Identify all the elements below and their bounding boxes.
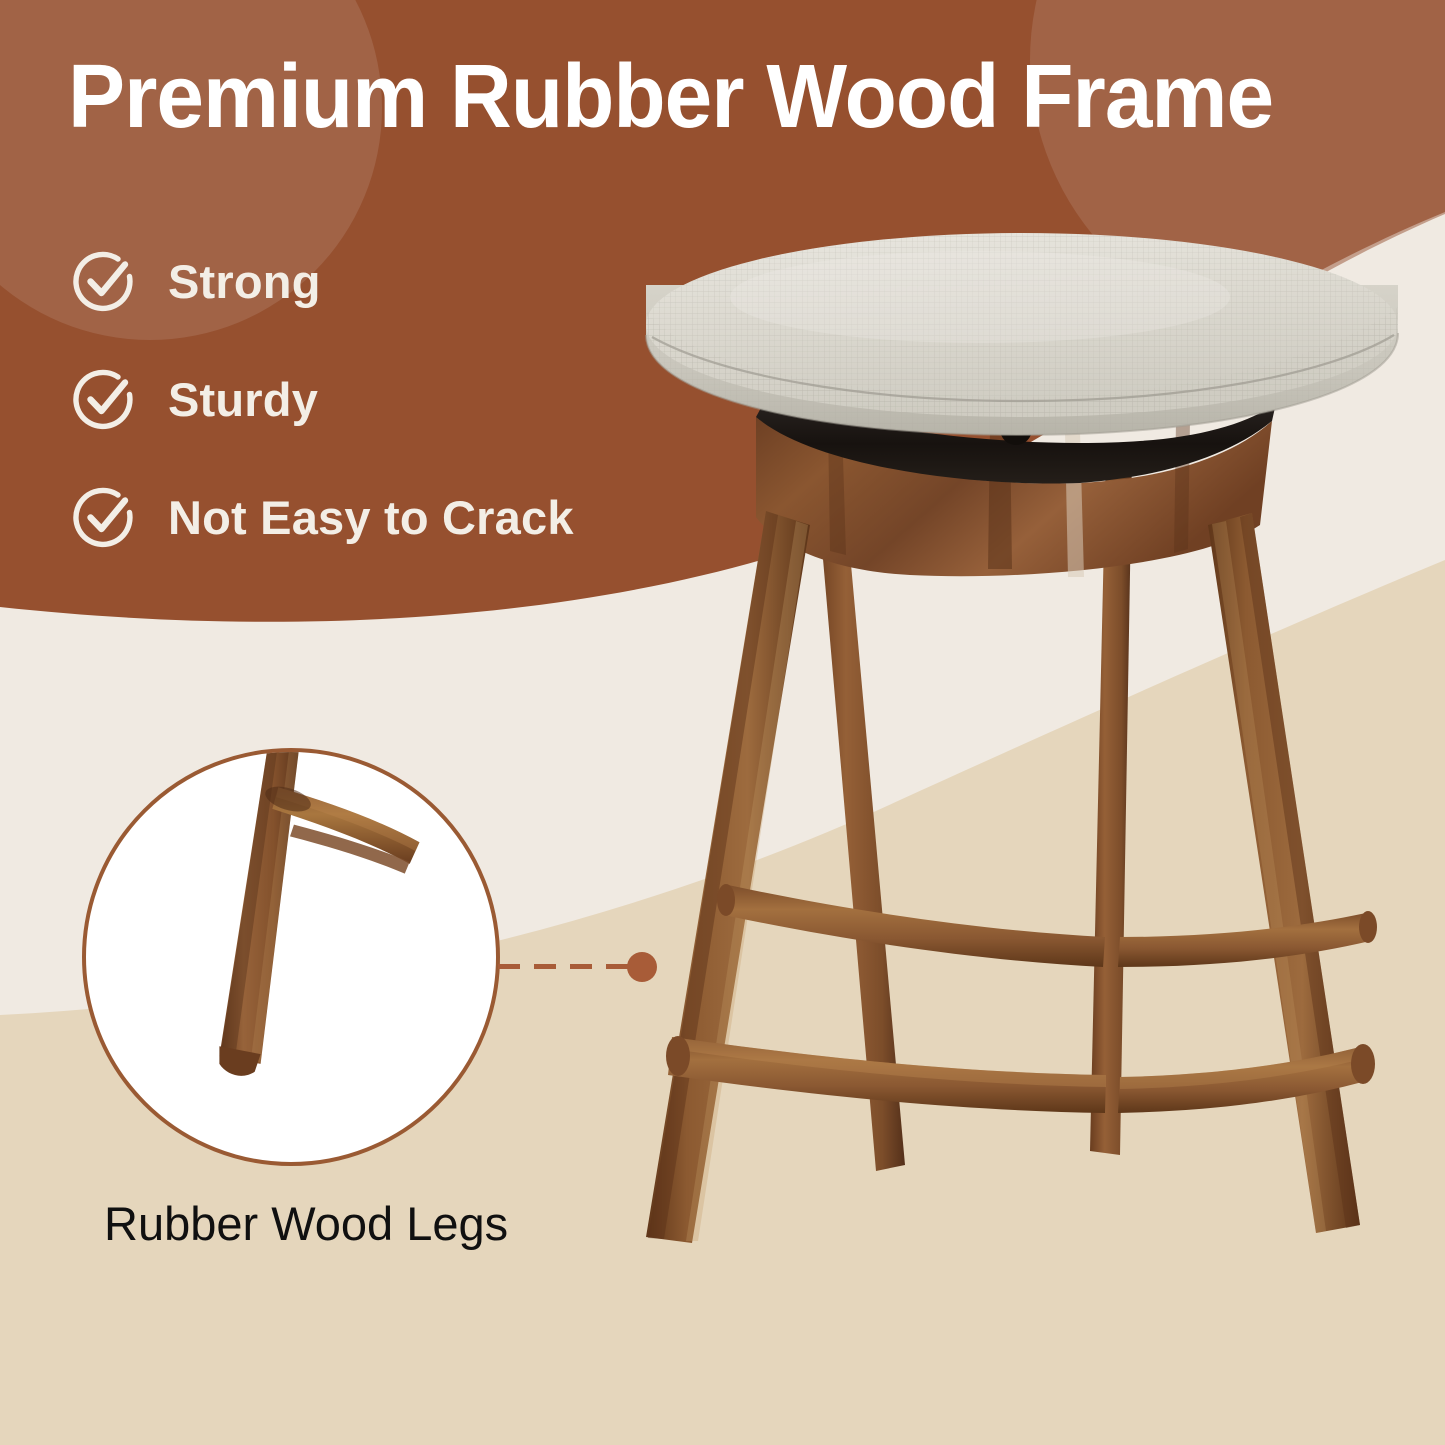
rung-cap-upper-left bbox=[717, 884, 735, 916]
rung-cap-upper-right bbox=[1359, 911, 1377, 943]
product-image-bar-stool bbox=[560, 225, 1445, 1285]
check-circle-icon bbox=[72, 366, 138, 432]
product-feature-graphic: Premium Rubber Wood Frame Strong Sturdy bbox=[0, 0, 1445, 1445]
feature-label: Strong bbox=[168, 254, 321, 309]
feature-label: Sturdy bbox=[168, 372, 318, 427]
cushion-highlight bbox=[730, 251, 1230, 343]
check-circle-icon bbox=[72, 484, 138, 550]
check-circle-icon bbox=[72, 248, 138, 314]
rung-cap-right bbox=[1351, 1044, 1375, 1084]
callout-connector-dot bbox=[627, 952, 657, 982]
rung-cap-left bbox=[666, 1036, 690, 1076]
footrest-rung-upper-left bbox=[724, 885, 1105, 967]
page-title: Premium Rubber Wood Frame bbox=[68, 52, 1341, 142]
zoom-callout-circle bbox=[82, 748, 500, 1166]
callout-label: Rubber Wood Legs bbox=[104, 1196, 508, 1251]
footrest-rung-upper-right bbox=[1118, 913, 1370, 967]
callout-connector-line bbox=[498, 964, 630, 969]
feature-label: Not Easy to Crack bbox=[168, 490, 574, 545]
